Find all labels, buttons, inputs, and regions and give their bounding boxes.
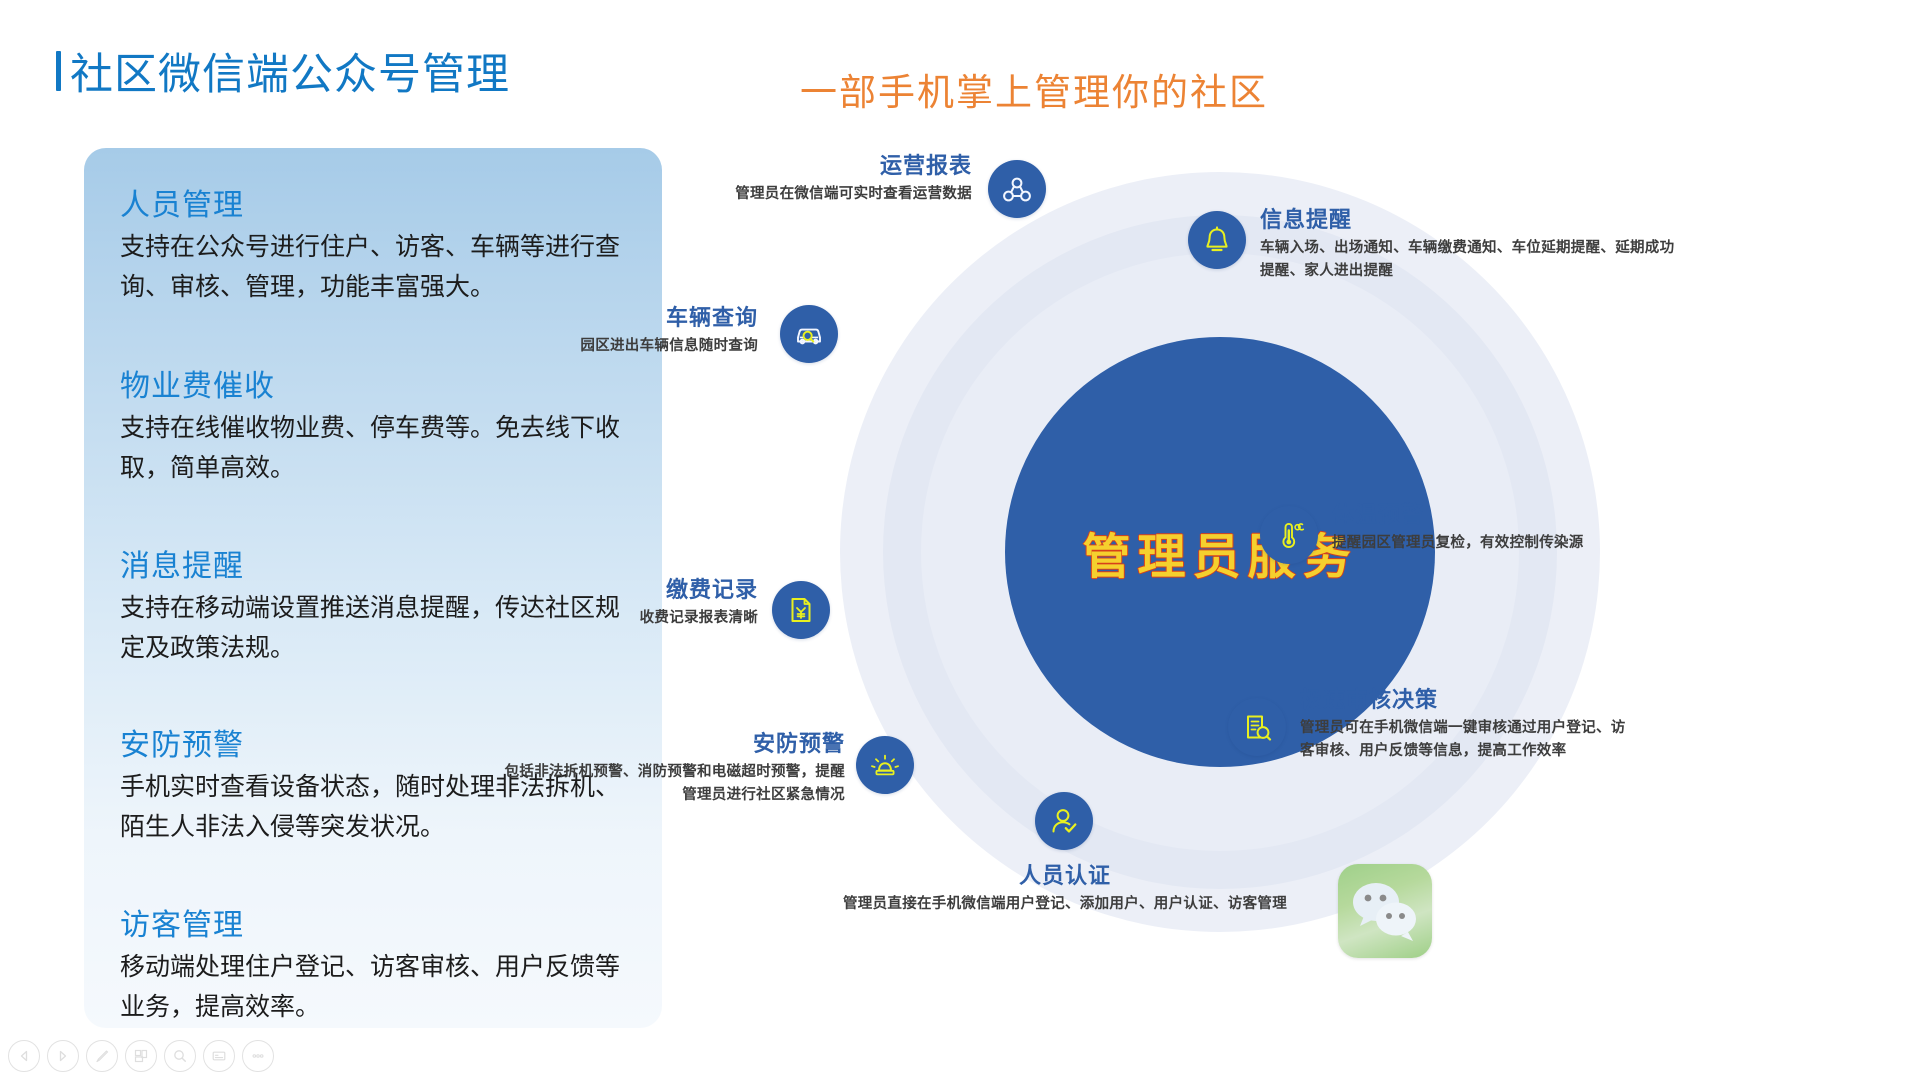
- feature-item-4: 访客管理 移动端处理住户登记、访客审核、用户反馈等业务，提高效率。: [120, 900, 640, 1027]
- report-icon: [988, 160, 1046, 218]
- node-desc: 提醒园区管理员复检，有效控制传染源: [1332, 532, 1712, 555]
- car-search-icon: [780, 305, 838, 363]
- node-desc: 管理员直接在手机微信端用户登记、添加用户、用户认证、访客管理: [760, 893, 1370, 916]
- node-title: 人员认证: [760, 858, 1370, 890]
- pen-icon[interactable]: [86, 1040, 118, 1072]
- node-desc: 园区进出车辆信息随时查询: [470, 335, 758, 358]
- receipt-icon: [772, 581, 830, 639]
- node-desc: 车辆入场、出场通知、车辆缴费通知、车位延期提醒、延期成功提醒、家人进出提醒: [1260, 237, 1680, 284]
- bell-icon: [1188, 211, 1246, 269]
- right-section-title: 一部手机掌上管理你的社区: [800, 62, 1268, 116]
- feature-title: 人员管理: [120, 180, 640, 224]
- node-desc: 包括非法拆机预警、消防预警和电磁超时预警，提醒管理员进行社区紧急情况: [495, 761, 845, 808]
- slide-canvas: 社区微信端公众号管理 人员管理 支持在公众号进行住户、访客、车辆等进行查询、审核…: [0, 0, 1920, 1080]
- node-text-security-alert: 安防预警 包括非法拆机预警、消防预警和电磁超时预警，提醒管理员进行社区紧急情况: [495, 726, 845, 808]
- previous-slide-icon[interactable]: [8, 1040, 40, 1072]
- left-section-title: 社区微信端公众号管理: [56, 40, 510, 102]
- thermometer-icon: [1260, 506, 1318, 564]
- feature-title: 物业费催收: [120, 361, 640, 405]
- wechat-logo: [1338, 864, 1432, 958]
- left-section-title-text: 社区微信端公众号管理: [70, 40, 510, 102]
- feature-item-1: 物业费催收 支持在线催收物业费、停车费等。免去线下收取，简单高效。: [120, 361, 640, 488]
- slide-grid-icon[interactable]: [125, 1040, 157, 1072]
- feature-item-0: 人员管理 支持在公众号进行住户、访客、车辆等进行查询、审核、管理，功能丰富强大。: [120, 180, 640, 307]
- node-desc: 管理员在微信端可实时查看运营数据: [690, 183, 972, 206]
- node-title: 极速审核决策: [1300, 682, 1640, 714]
- alarm-light-icon: [856, 736, 914, 794]
- node-text-message-reminder: 信息提醒 车辆入场、出场通知、车辆缴费通知、车位延期提醒、延期成功提醒、家人进出…: [1260, 202, 1680, 284]
- node-title: 体温预警: [1332, 497, 1712, 529]
- more-options-icon[interactable]: [242, 1040, 274, 1072]
- presenter-view-icon[interactable]: [203, 1040, 235, 1072]
- feature-desc: 支持在线催收物业费、停车费等。免去线下收取，简单高效。: [120, 409, 640, 488]
- document-search-icon: [1228, 698, 1286, 756]
- node-desc: 收费记录报表清晰: [470, 607, 758, 630]
- node-text-payment-record: 缴费记录 收费记录报表清晰: [470, 572, 758, 630]
- node-text-person-auth: 人员认证 管理员直接在手机微信端用户登记、添加用户、用户认证、访客管理: [760, 858, 1370, 916]
- title-accent-bar: [56, 51, 61, 91]
- slideshow-toolbar[interactable]: [8, 1040, 274, 1072]
- node-text-vehicle-query: 车辆查询 园区进出车辆信息随时查询: [470, 300, 758, 358]
- magnifier-icon[interactable]: [164, 1040, 196, 1072]
- node-text-operation-report: 运营报表 管理员在微信端可实时查看运营数据: [690, 148, 972, 206]
- user-check-icon: [1035, 792, 1093, 850]
- node-text-fast-review: 极速审核决策 管理员可在手机微信端一键审核通过用户登记、访客审核、用户反馈等信息…: [1300, 682, 1640, 764]
- next-slide-icon[interactable]: [47, 1040, 79, 1072]
- node-title: 缴费记录: [470, 572, 758, 604]
- feature-title: 访客管理: [120, 900, 640, 944]
- node-text-temperature-alert: 体温预警 提醒园区管理员复检，有效控制传染源: [1332, 497, 1712, 555]
- node-desc: 管理员可在手机微信端一键审核通过用户登记、访客审核、用户反馈等信息，提高工作效率: [1300, 717, 1640, 764]
- radial-diagram: 管理员服务 运营报表 管理员在微信端可实时查看运营数据: [700, 120, 1920, 1000]
- node-title: 车辆查询: [470, 300, 758, 332]
- feature-desc: 移动端处理住户登记、访客审核、用户反馈等业务，提高效率。: [120, 948, 640, 1027]
- node-title: 安防预警: [495, 726, 845, 758]
- node-title: 信息提醒: [1260, 202, 1680, 234]
- feature-desc: 支持在公众号进行住户、访客、车辆等进行查询、审核、管理，功能丰富强大。: [120, 228, 640, 307]
- node-title: 运营报表: [690, 148, 972, 180]
